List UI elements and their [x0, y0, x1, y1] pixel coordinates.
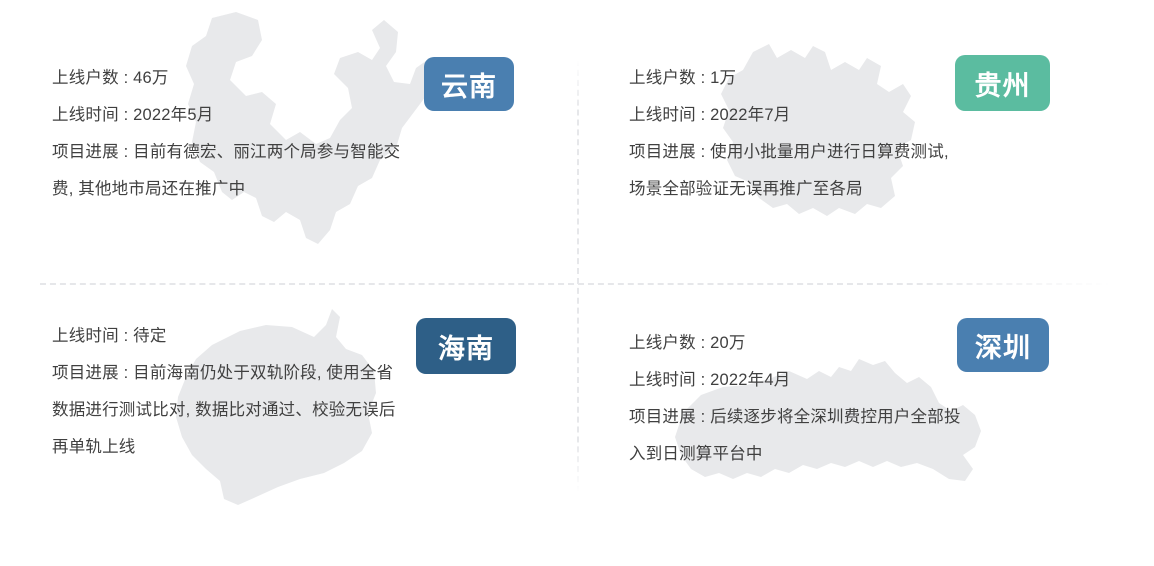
- card-line: 再单轨上线: [52, 429, 532, 466]
- card-text-block-yunnan: 上线户数 : 46万 上线时间 : 2022年5月 项目进展 : 目前有德宏、丽…: [52, 60, 532, 208]
- card-line: 上线时间 : 待定: [52, 318, 532, 355]
- card-line: 项目进展 : 目前有德宏、丽江两个局参与智能交: [52, 134, 532, 171]
- card-line: 项目进展 : 目前海南仍处于双轨阶段, 使用全省: [52, 355, 532, 392]
- card-line: 上线户数 : 1万: [629, 60, 1109, 97]
- region-card-shenzhen[interactable]: 深圳 上线户数 : 20万 上线时间 : 2022年4月 项目进展 : 后续逐步…: [577, 283, 1154, 566]
- card-line: 费, 其他地市局还在推广中: [52, 171, 532, 208]
- infographic-canvas: 云南 上线户数 : 46万 上线时间 : 2022年5月 项目进展 : 目前有德…: [0, 0, 1154, 566]
- card-line: 上线时间 : 2022年5月: [52, 97, 532, 134]
- region-card-guizhou[interactable]: 贵州 上线户数 : 1万 上线时间 : 2022年7月 项目进展 : 使用小批量…: [577, 0, 1154, 283]
- card-line: 项目进展 : 使用小批量用户进行日算费测试,: [629, 134, 1109, 171]
- region-card-yunnan[interactable]: 云南 上线户数 : 46万 上线时间 : 2022年5月 项目进展 : 目前有德…: [0, 0, 577, 283]
- card-text-block-guizhou: 上线户数 : 1万 上线时间 : 2022年7月 项目进展 : 使用小批量用户进…: [629, 60, 1109, 208]
- card-line: 数据进行测试比对, 数据比对通过、校验无误后: [52, 392, 532, 429]
- card-line: 上线户数 : 20万: [629, 325, 1109, 362]
- card-line: 上线户数 : 46万: [52, 60, 532, 97]
- card-line: 场景全部验证无误再推广至各局: [629, 171, 1109, 208]
- card-line: 上线时间 : 2022年4月: [629, 362, 1109, 399]
- card-text-block-hainan: 上线时间 : 待定 项目进展 : 目前海南仍处于双轨阶段, 使用全省 数据进行测…: [52, 318, 532, 466]
- region-card-hainan[interactable]: 海南 上线时间 : 待定 项目进展 : 目前海南仍处于双轨阶段, 使用全省 数据…: [0, 283, 577, 566]
- card-line: 项目进展 : 后续逐步将全深圳费控用户全部投: [629, 399, 1109, 436]
- card-line: 上线时间 : 2022年7月: [629, 97, 1109, 134]
- card-line: 入到日测算平台中: [629, 436, 1109, 473]
- card-text-block-shenzhen: 上线户数 : 20万 上线时间 : 2022年4月 项目进展 : 后续逐步将全深…: [629, 325, 1109, 473]
